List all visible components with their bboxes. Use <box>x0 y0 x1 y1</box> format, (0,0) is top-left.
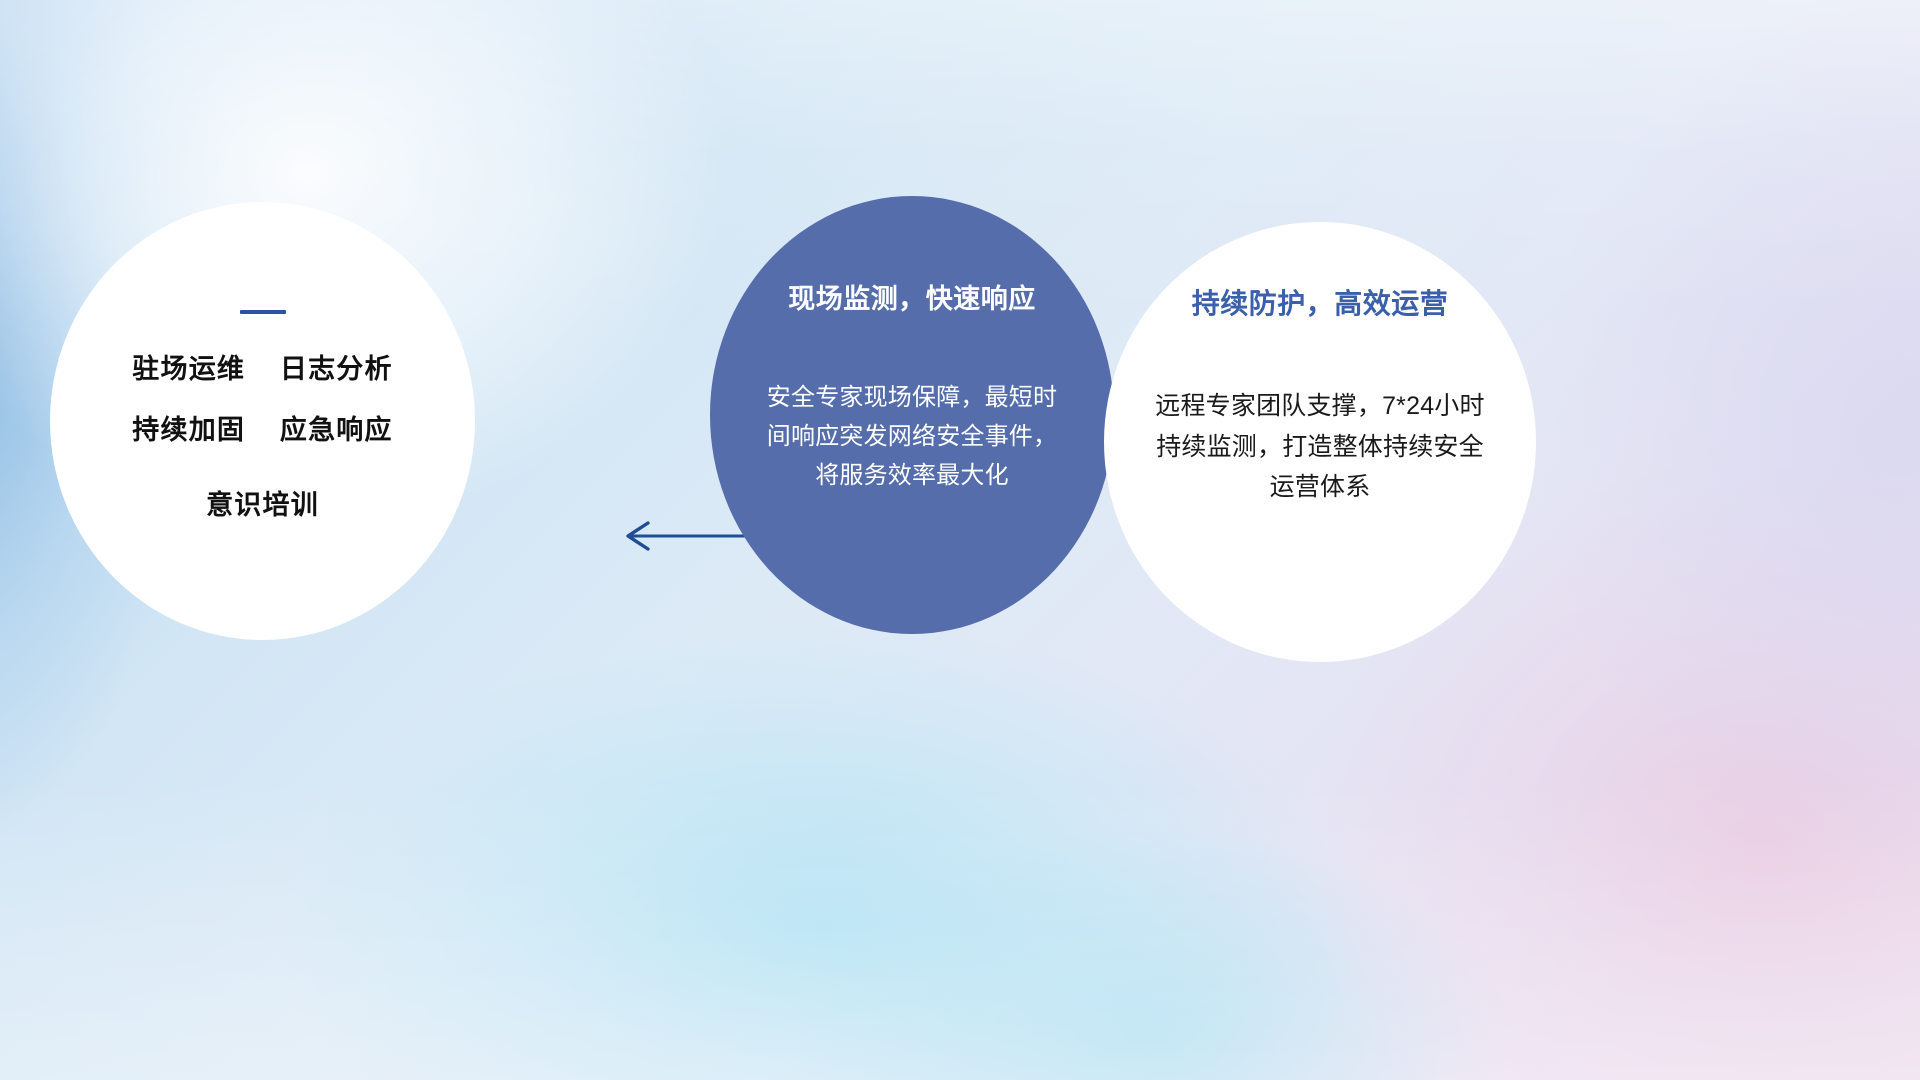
left-circle-line-1: 驻场运维 日志分析 <box>132 356 392 383</box>
right-circle-title: 持续防护，高效运营 <box>1192 290 1449 318</box>
left-circle-line-2: 持续加固 应急响应 <box>132 417 392 444</box>
middle-circle-body: 安全专家现场保障，最短时间响应突发网络安全事件，将服务效率最大化 <box>762 379 1062 496</box>
middle-capability-circle[interactable]: 现场监测，快速响应 安全专家现场保障，最短时间响应突发网络安全事件，将服务效率最… <box>710 196 1114 634</box>
divider-dash-icon <box>240 310 286 314</box>
right-capability-circle[interactable]: 持续防护，高效运营 远程专家团队支撑，7*24小时持续监测，打造整体持续安全运营… <box>1104 222 1536 662</box>
left-capability-circle[interactable]: 驻场运维 日志分析 持续加固 应急响应 意识培训 <box>50 202 475 640</box>
left-circle-line-3: 意识培训 <box>206 492 319 519</box>
right-circle-body: 远程专家团队支撑，7*24小时持续监测，打造整体持续安全运营体系 <box>1144 386 1496 508</box>
slide-canvas: 驻场运维 日志分析 持续加固 应急响应 意识培训 现场监测，快速响应 安全专家现… <box>0 0 1920 1080</box>
middle-circle-title: 现场监测，快速响应 <box>788 286 1036 313</box>
